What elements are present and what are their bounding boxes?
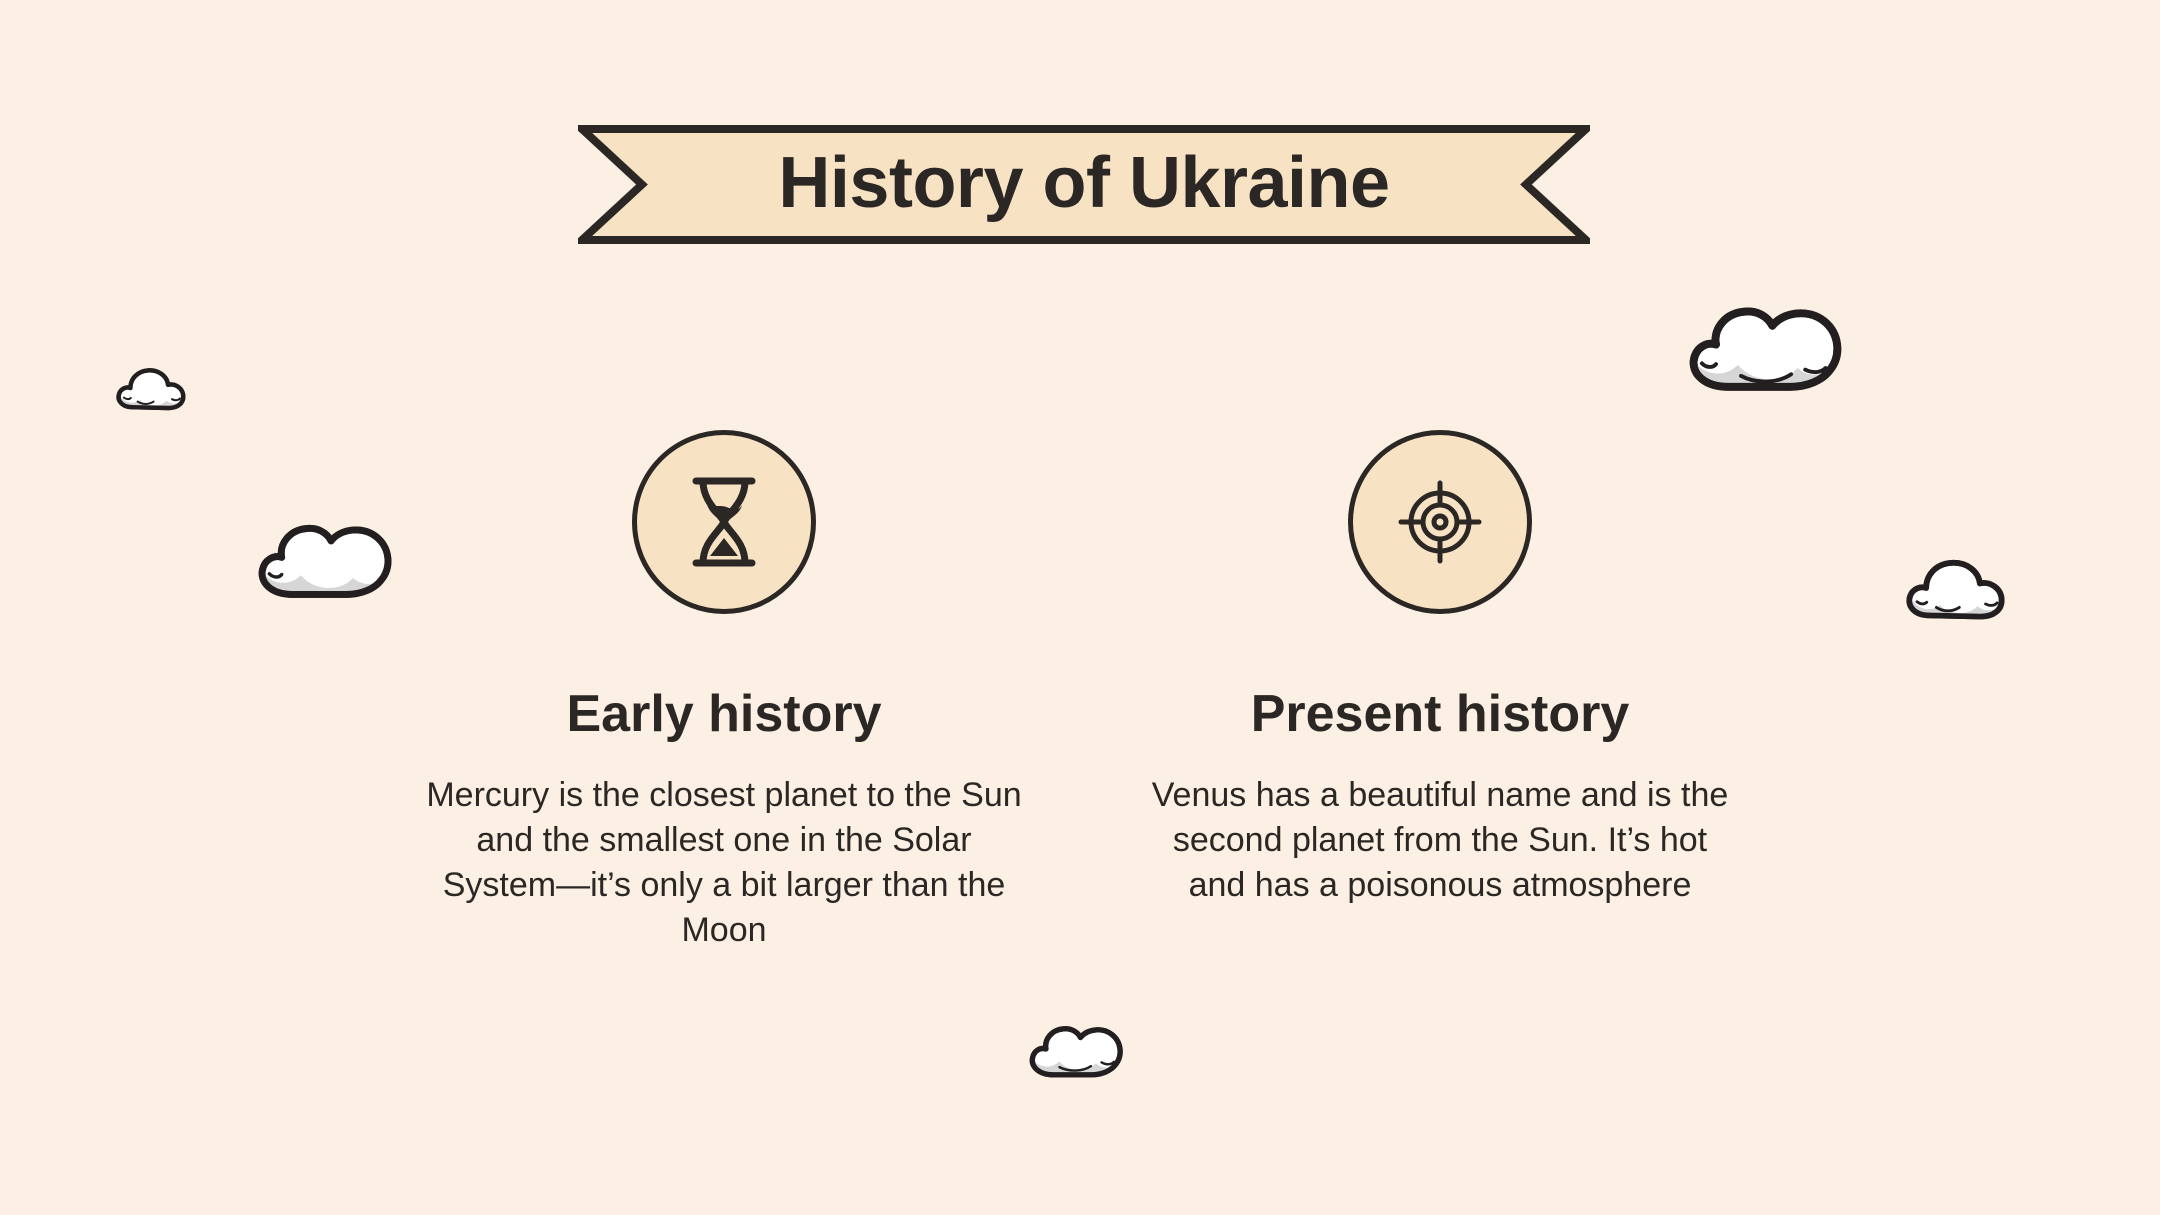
cloud-mid-left <box>250 508 408 604</box>
title-banner: History of Ukraine <box>578 125 1590 244</box>
cloud-mid-right <box>1893 548 2021 628</box>
column-body-early: Mercury is the closest planet to the Sun… <box>424 773 1024 953</box>
cloud-top-right-large <box>1680 288 1860 398</box>
cloud-top-left-small <box>112 360 192 416</box>
content-column-present-history: Present history Venus has a beautiful na… <box>1130 430 1750 908</box>
page-title: History of Ukraine <box>578 125 1590 244</box>
hourglass-icon-badge <box>632 430 816 614</box>
column-heading-early: Early history <box>566 686 881 743</box>
target-icon-badge <box>1348 430 1532 614</box>
slide-canvas: History of Ukraine Early h <box>0 0 2160 1215</box>
column-heading-present: Present history <box>1251 686 1630 743</box>
cloud-bottom-center <box>1024 1010 1134 1086</box>
column-body-present: Venus has a beautiful name and is the se… <box>1150 773 1730 908</box>
target-icon <box>1394 476 1486 568</box>
content-column-early-history: Early history Mercury is the closest pla… <box>414 430 1034 953</box>
hourglass-icon <box>685 474 763 570</box>
